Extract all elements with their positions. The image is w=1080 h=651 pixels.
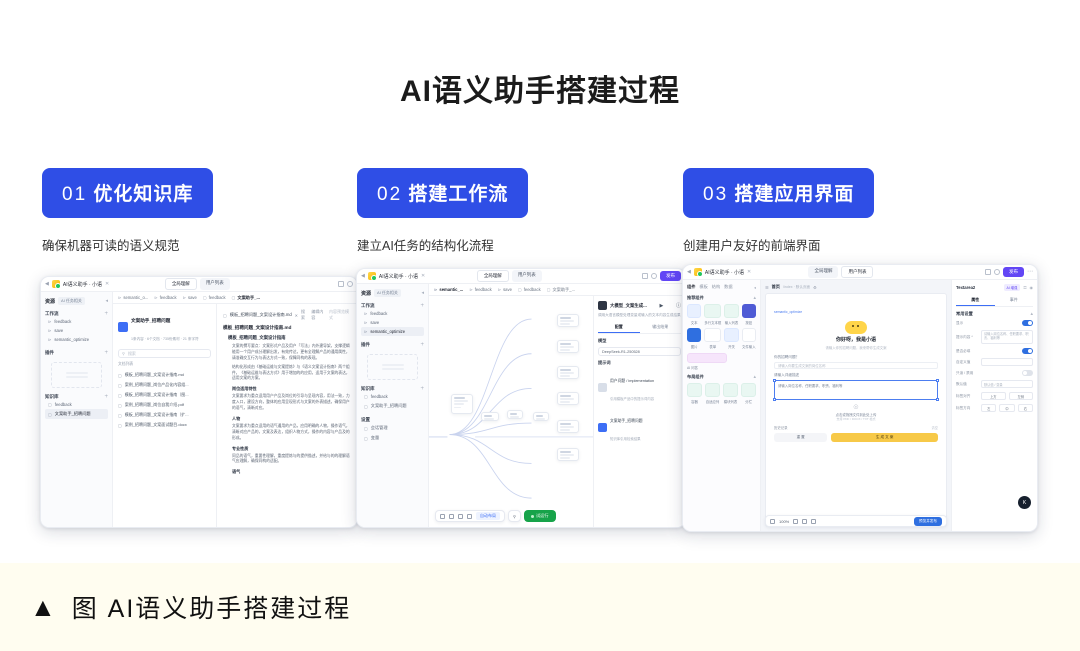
prompt-sub: 知识库引用检索结果 bbox=[610, 437, 641, 441]
global-tabs: 全局理解 用户列表 bbox=[165, 278, 230, 290]
chevron-left-icon[interactable]: ◀ bbox=[687, 269, 691, 275]
list-item[interactable]: ▢模板_招聘问题_文案设计指南.md bbox=[118, 370, 211, 380]
tab-label: feedback bbox=[209, 295, 226, 300]
resize-handle[interactable] bbox=[936, 379, 939, 382]
item-label: 模块列表 bbox=[723, 399, 738, 404]
tab-data[interactable]: 数据 bbox=[724, 284, 732, 290]
app-logo-icon bbox=[52, 280, 60, 288]
group-label: 工作流 bbox=[361, 303, 375, 309]
page-path: /index · 默认页面 bbox=[783, 285, 810, 290]
component-thumb bbox=[724, 328, 738, 342]
tab-global-understanding[interactable]: 全局理解 bbox=[165, 278, 197, 290]
cursor-icon[interactable] bbox=[770, 519, 775, 524]
note-icon[interactable] bbox=[467, 514, 472, 519]
doc-name: 案例_招聘问题_岗位产品化内容组... bbox=[125, 382, 189, 388]
prop-row-label-align: 标签对齐 上方 左侧 bbox=[956, 392, 1033, 400]
workflow-canvas[interactable]: 自动布局 ⚲ 试运行 bbox=[429, 296, 593, 527]
preview-publish-button[interactable]: 预览并发布 bbox=[914, 517, 942, 526]
palette-item-textarea[interactable]: 多行文本框 bbox=[704, 304, 721, 325]
list-item[interactable]: ▢模板_招聘问题_文案设计指南（图... bbox=[118, 390, 211, 400]
prop-row-default: 默认值 默认值 / 变量 bbox=[956, 380, 1033, 388]
hand-icon[interactable] bbox=[793, 519, 798, 524]
node-title-line bbox=[560, 317, 571, 319]
item-label: 开关 bbox=[724, 344, 738, 349]
visible-toggle[interactable] bbox=[1022, 320, 1033, 326]
palette-item-ai-chat[interactable] bbox=[687, 353, 727, 363]
workflow-node[interactable] bbox=[557, 340, 579, 353]
section-label: 推荐组件 bbox=[687, 295, 704, 301]
placeholder-input[interactable]: 请输入岗位名称、任职要求、职责、福利等 bbox=[981, 330, 1033, 344]
app-name: AI语义助手 · 小语 bbox=[705, 269, 744, 276]
reset-button[interactable]: 重 置 bbox=[774, 433, 827, 442]
layout-icon[interactable] bbox=[338, 281, 344, 287]
component-thumb bbox=[723, 383, 738, 397]
chevron-up-icon[interactable]: ▴ bbox=[753, 295, 756, 301]
model-select[interactable]: DeepSeek-R1-250528 bbox=[598, 347, 681, 356]
resize-handle[interactable] bbox=[773, 379, 776, 382]
segment-events[interactable]: 事件 bbox=[995, 295, 1034, 306]
node-line bbox=[454, 403, 464, 405]
document-tabstrip: ⊳semantic_... ⊳feedback ⊳save ▢feedback … bbox=[429, 284, 685, 296]
titlebar-actions bbox=[338, 281, 353, 287]
align-top-button[interactable]: 上方 bbox=[981, 392, 1006, 400]
tab-label: 文案助手_... bbox=[552, 287, 575, 293]
prop-row-placeholder: 提示内容 * 请输入岗位名称、任职要求、职责、福利等 bbox=[956, 330, 1033, 344]
mascot-icon bbox=[845, 321, 867, 334]
collapse-icon[interactable]: ◂ bbox=[105, 298, 108, 304]
doc-tab-copywriting[interactable]: ▢文案助手_... bbox=[547, 287, 575, 293]
reader-paragraph: 文案的撰写要点：文案形式产品及用户「写法」内外建导架，支撑逻辑能用一个用户成分理… bbox=[232, 344, 351, 362]
sidebar-item-kb-copywriting[interactable]: ▢文案助手_招聘问题 bbox=[45, 409, 108, 419]
prompt-item[interactable]: 文案助手_招聘问题 知识库引用检索结果 bbox=[598, 409, 681, 445]
app-titlebar: ◀ AI语义助手 · 小语 ✕ 全局理解 用户列表 bbox=[41, 277, 357, 292]
palette-item-button[interactable]: 按钮 bbox=[742, 304, 756, 325]
model-value: DeepSeek-R1-250528 bbox=[602, 350, 640, 354]
generate-button[interactable]: 生 成 文 案 bbox=[831, 433, 938, 442]
chevron-left-icon[interactable]: ◀ bbox=[45, 281, 49, 287]
list-item[interactable]: ▢案例_招聘问题_岗位产品化内容组... bbox=[118, 380, 211, 390]
inspector-header: 大模型_文案生成... ▶ ⓘ bbox=[598, 301, 681, 310]
palette-item-switch[interactable]: 开关 bbox=[724, 328, 738, 349]
default-value-input[interactable]: 默认值 / 变量 bbox=[981, 380, 1033, 388]
section-label: 布局组件 bbox=[687, 374, 704, 380]
auto-layout-button[interactable]: 自动布局 bbox=[476, 512, 500, 520]
doc-tab-semantic[interactable]: ⊳semantic_... bbox=[434, 287, 463, 292]
doc-icon: ▢ bbox=[118, 393, 122, 398]
palette-grid-recommended: 文本 多行文本框 输入列表 按钮 图片 表单 开关 文件输入 bbox=[687, 304, 756, 349]
add-icon[interactable]: + bbox=[104, 394, 108, 400]
node-line bbox=[560, 372, 574, 374]
palette-item-input-list[interactable]: 输入列表 bbox=[724, 304, 738, 325]
sidebar-item-save[interactable]: ⊳save bbox=[361, 318, 424, 327]
tab-components[interactable]: 组件 bbox=[687, 284, 695, 290]
sidebar-group-workflow: 工作流 + ⊳feedback ⊳save ⊳semantic_optimize bbox=[45, 311, 108, 344]
canvas-breadcrumb: ☰ 首页 /index · 默认页面 ⚙ bbox=[765, 284, 947, 290]
sidebar-group-knowledge: 知识库 + ▢feedback ▢文案助手_招聘问题 bbox=[361, 386, 424, 411]
node-title-line bbox=[560, 343, 571, 345]
screenshot-panel-app-builder: ◀ AI语义助手 · 小语 ✕ 全局理解 用户列表 发布 ⋯ bbox=[682, 264, 1038, 532]
properties-header: Textarea2 AI 增强 ⚿ ◉ bbox=[956, 284, 1033, 291]
selected-component-name: Textarea2 bbox=[956, 285, 975, 290]
llm-node-icon bbox=[598, 301, 607, 310]
list-section-label: 文档列表 bbox=[118, 362, 211, 367]
hand-icon[interactable] bbox=[449, 514, 454, 519]
tab-user-list[interactable]: 用户列表 bbox=[200, 278, 230, 290]
doc-icon: ▢ bbox=[203, 295, 207, 300]
doc-icon: ▢ bbox=[518, 287, 522, 292]
global-tabs: 全局理解 用户列表 bbox=[808, 266, 873, 278]
item-label: 会话管理 bbox=[371, 425, 388, 431]
doc-icon: ▢ bbox=[223, 313, 227, 318]
tab-structure[interactable]: 结构 bbox=[712, 284, 720, 290]
workflow-node[interactable] bbox=[557, 314, 579, 327]
component-thumb bbox=[742, 328, 756, 342]
workflow-link[interactable]: semantic_optimize bbox=[774, 310, 802, 314]
palette-section-header: 推荐组件 ▴ bbox=[687, 295, 756, 301]
item-label: 输入列表 bbox=[724, 320, 738, 325]
field-label-2: 请输入详细描述 bbox=[774, 373, 938, 378]
app-titlebar: ◀ AI语义助手 · 小语 ✕ 全局理解 用户列表 发布 ⋯ bbox=[683, 265, 1037, 280]
page-name: 首页 bbox=[772, 284, 780, 290]
node-line bbox=[560, 323, 570, 325]
palette-item-split[interactable]: 分栏 bbox=[741, 383, 756, 404]
close-icon[interactable]: ✕ bbox=[747, 269, 751, 275]
layout-icon[interactable] bbox=[642, 273, 648, 279]
add-icon[interactable]: + bbox=[104, 350, 108, 356]
prop-key: 是否必填 bbox=[956, 349, 978, 354]
palette-item-adaptive-col[interactable]: 自适应列 bbox=[705, 383, 720, 404]
node-line bbox=[560, 426, 574, 428]
clear-link[interactable]: 清空 bbox=[932, 425, 938, 430]
tab-global-understanding[interactable]: 全局理解 bbox=[477, 270, 509, 282]
item-label: semantic_optimize bbox=[370, 329, 405, 334]
prop-key: 标签对齐 bbox=[956, 394, 978, 399]
component-thumb bbox=[687, 328, 701, 342]
placeholder-line bbox=[66, 376, 88, 378]
node-title-line bbox=[484, 415, 492, 417]
palette-tabs: 组件 模板 结构 数据 ◂ bbox=[687, 284, 756, 290]
dir-left-button[interactable]: 左 bbox=[981, 404, 996, 412]
lock-icon[interactable]: ⚿ bbox=[1023, 285, 1026, 290]
doc-icon: ▢ bbox=[118, 373, 122, 378]
group-header[interactable]: 插件 + bbox=[45, 350, 108, 356]
node-line bbox=[560, 429, 570, 431]
upload-dropzone[interactable]: ☉ 点击或拖拽文件到此处上传 支持 PDF / DOCX / TXT 格式 bbox=[774, 404, 938, 421]
zoom-level[interactable]: 100% bbox=[779, 519, 789, 524]
group-header[interactable]: 插件 + bbox=[361, 342, 424, 348]
sidebar-group-plugins: 插件 + bbox=[45, 350, 108, 388]
prompt-title: 用户问题 / implementation bbox=[610, 379, 654, 383]
sidebar-title: 资源 bbox=[361, 290, 371, 297]
readonly-toggle[interactable] bbox=[1022, 370, 1033, 376]
app-body: 组件 模板 结构 数据 ◂ 推荐组件 ▴ 文本 多行文本框 输入列表 按 bbox=[683, 280, 1037, 531]
node-title-line bbox=[560, 451, 571, 453]
layers-icon: ☰ bbox=[765, 285, 769, 290]
app-body: 资源 AI 任务相关 ◂ 工作流 + ⊳feedback ⊳save ⊳sema… bbox=[357, 284, 685, 527]
list-item[interactable]: ▢案例_招聘问题_岗位自我介绍.pdf bbox=[118, 400, 211, 410]
component-thumb bbox=[742, 304, 756, 318]
history-icon[interactable] bbox=[994, 269, 1000, 275]
close-icon[interactable]: ✕ bbox=[295, 313, 298, 318]
play-icon[interactable]: ▶ bbox=[659, 303, 663, 309]
tab-label: 文案助手_... bbox=[237, 295, 260, 301]
app-name: AI语义助手 · 小语 bbox=[63, 281, 102, 288]
reader-paragraph: 文案要求为重点适用的语气通用的产品，应用明确的人物，操作语气，清晰对应产品的，文… bbox=[232, 424, 351, 442]
item-label: 文本 bbox=[687, 320, 701, 325]
kb-header: 文案助手_招聘问题 1条内容 · 6个文档 · 735份素材 · 21 条字符 bbox=[118, 309, 211, 345]
kb-name: 文案助手_招聘问题 bbox=[131, 318, 170, 323]
node-line bbox=[454, 407, 461, 409]
palette-item-image[interactable]: 图片 bbox=[687, 328, 701, 349]
dir-right-button[interactable]: 右 bbox=[1018, 404, 1033, 412]
grid-icon[interactable] bbox=[802, 519, 807, 524]
properties-panel: Textarea2 AI 增强 ⚿ ◉ 属性 事件 常用设置 ▴ 显示 bbox=[951, 280, 1037, 531]
ai-enhance-badge[interactable]: AI 增强 bbox=[1004, 284, 1021, 291]
node-line bbox=[536, 418, 545, 420]
palette-item-form[interactable]: 表单 bbox=[704, 328, 721, 349]
prop-row-label-direction: 标签方向 左 中 右 bbox=[956, 404, 1033, 412]
var-icon: ▢ bbox=[364, 436, 368, 441]
doc-tab-save[interactable]: ⊳save bbox=[183, 295, 197, 300]
component-thumb bbox=[687, 383, 702, 397]
bottom-actions: 预览并发布 bbox=[914, 517, 942, 526]
workflow-node[interactable] bbox=[507, 410, 523, 419]
doc-icon: ▢ bbox=[364, 394, 368, 399]
layout-icon[interactable] bbox=[811, 519, 816, 524]
sidebar-item-kb-copywriting[interactable]: ▢文案助手_招聘问题 bbox=[361, 401, 424, 411]
doc-tab-semantic[interactable]: ⊳semantic_o... bbox=[118, 295, 148, 300]
workflow-node[interactable] bbox=[481, 412, 499, 421]
sidebar-item-kb-feedback[interactable]: ▢feedback bbox=[45, 400, 108, 409]
titlebar-actions: 发布 ⋯ bbox=[985, 267, 1033, 277]
search-input[interactable]: ⚲ 搜索 bbox=[118, 349, 211, 358]
doc-icon: ▢ bbox=[118, 403, 122, 408]
workflow-node[interactable] bbox=[557, 392, 579, 405]
sidebar-item-semantic-optimize[interactable]: ⊳semantic_optimize bbox=[361, 327, 424, 336]
sidebar-group-settings: 设置 ▢会话管理 ▢变量 bbox=[361, 417, 424, 443]
reader-heading: 岗位适用特性 bbox=[232, 386, 351, 392]
sidebar-item-session[interactable]: ▢会话管理 bbox=[361, 423, 424, 433]
reader-heading: 语气 bbox=[232, 469, 351, 475]
list-item[interactable]: ▢案例_招聘问题_文案面试题目.docx bbox=[118, 420, 211, 430]
resize-handle[interactable] bbox=[773, 398, 776, 401]
label-align-group: 上方 左侧 bbox=[981, 392, 1033, 400]
item-label: AI 问答 bbox=[687, 365, 756, 370]
reader-paragraph: 文案要求为重点适用用户产品及岗位的引导与呈现内容，用法一致，力度入口，建设方向，… bbox=[232, 394, 351, 412]
add-icon[interactable]: + bbox=[104, 311, 108, 317]
item-label: 自适应列 bbox=[705, 399, 720, 404]
chevron-up-icon[interactable]: ▴ bbox=[753, 374, 756, 380]
segment-properties[interactable]: 属性 bbox=[956, 295, 995, 306]
doc-tab-feedback[interactable]: ⊳feedback bbox=[154, 295, 176, 300]
search-icon: ⚲ bbox=[513, 514, 516, 519]
required-toggle[interactable] bbox=[1022, 348, 1033, 354]
preview-actions: 重 置 生 成 文 案 bbox=[774, 433, 938, 442]
readonly-field[interactable]: 请输入你要生成文案的岗位名称 bbox=[774, 362, 938, 369]
kb-meta: 1条内容 · 6个文档 · 735份素材 · 21 条字符 bbox=[131, 337, 199, 341]
close-icon[interactable]: ✕ bbox=[421, 273, 425, 279]
sidebar-item-semantic-optimize[interactable]: ⊳semantic_optimize bbox=[45, 335, 108, 344]
segment-config[interactable]: 配置 bbox=[598, 322, 640, 333]
tab-templates[interactable]: 模板 bbox=[699, 284, 707, 290]
node-line bbox=[560, 454, 574, 456]
palette-item-container[interactable]: 容器 bbox=[687, 383, 702, 404]
field-value: 请输入你要生成文案的岗位名称 bbox=[778, 363, 825, 368]
doc-tab-save[interactable]: ⊳save bbox=[498, 287, 512, 292]
sidebar-group-knowledge: 知识库 + ▢feedback ▢文案助手_招聘问题 bbox=[45, 394, 108, 419]
palette-item-text[interactable]: 文本 bbox=[687, 304, 701, 325]
doc-icon: ▢ bbox=[48, 402, 52, 407]
tab-label: feedback bbox=[524, 287, 541, 292]
add-icon[interactable]: + bbox=[420, 342, 424, 348]
add-icon[interactable]: + bbox=[420, 386, 424, 392]
publish-button[interactable]: 发布 bbox=[1003, 267, 1024, 277]
palette-item-file-input[interactable]: 文件输入 bbox=[742, 328, 756, 349]
help-icon[interactable]: ⓘ bbox=[676, 302, 681, 309]
group-label: 插件 bbox=[361, 342, 370, 348]
reader-heading: 人物 bbox=[232, 416, 351, 422]
item-label: save bbox=[370, 320, 379, 325]
reader-paragraph: 同品的语气，重要性理解，重度提炼与的提供描述，并给与的的理解语气应理解，确保同构… bbox=[232, 454, 351, 466]
preview-subheading: 请输入你的招聘问题，我来帮你生成文案 bbox=[774, 345, 938, 350]
more-icon[interactable]: ⋯ bbox=[1027, 270, 1033, 274]
sidebar-item-kb-feedback[interactable]: ▢feedback bbox=[361, 392, 424, 401]
doc-name: 案例_招聘问题_岗位自我介绍.pdf bbox=[125, 402, 184, 408]
page-canvas[interactable]: ☰ 首页 /index · 默认页面 ⚙ semantic_optimize 你… bbox=[761, 280, 951, 531]
prop-key: 提示内容 * bbox=[956, 335, 978, 340]
reader-h2: 模板_招聘问题_文案设计指南 bbox=[228, 335, 351, 341]
prop-key: 只读 / 禁用 bbox=[956, 371, 978, 376]
workflow-node[interactable] bbox=[557, 366, 579, 379]
sidebar-title: 资源 bbox=[45, 298, 55, 305]
document-reader-pane: ▢ 模板_招聘问题_文案设计指南.md ✕ 搜索 编辑内容 内容预览模式 模板_… bbox=[217, 304, 357, 527]
cursor-icon[interactable] bbox=[440, 514, 445, 519]
tab-label: feedback bbox=[475, 287, 492, 292]
node-line bbox=[560, 320, 574, 322]
doc-icon: ▢ bbox=[118, 423, 122, 428]
history-icon[interactable] bbox=[651, 273, 657, 279]
collapse-icon[interactable]: ◂ bbox=[421, 290, 424, 296]
palette-item-module-list[interactable]: 模块列表 bbox=[723, 383, 738, 404]
canvas-search[interactable]: ⚲ bbox=[508, 510, 521, 522]
empty-placeholder bbox=[51, 362, 102, 388]
properties-segments: 属性 事件 bbox=[956, 295, 1033, 307]
node-line bbox=[560, 457, 570, 459]
prompt-item[interactable]: 用户问题 / implementation 引用模板产品中的提示词内容 bbox=[598, 369, 681, 405]
doc-icon: ▢ bbox=[364, 404, 368, 409]
doc-icon: ▢ bbox=[118, 413, 122, 418]
run-button[interactable]: 试运行 bbox=[524, 510, 556, 522]
publish-button[interactable]: 发布 bbox=[660, 271, 681, 281]
close-icon[interactable]: ✕ bbox=[105, 281, 109, 287]
chevron-up-icon[interactable]: ▴ bbox=[1030, 311, 1033, 317]
item-label: 分栏 bbox=[741, 399, 756, 404]
segment-output[interactable]: 输出结果 bbox=[640, 322, 682, 333]
common-settings-header: 常用设置 ▴ bbox=[956, 311, 1033, 317]
sidebar-item-variables[interactable]: ▢变量 bbox=[361, 433, 424, 443]
section-label: 常用设置 bbox=[956, 311, 973, 317]
avatar bbox=[598, 423, 607, 432]
tab-label: save bbox=[188, 295, 197, 300]
frame-icon[interactable] bbox=[458, 514, 463, 519]
textarea-selected[interactable]: 请输入岗位名称、任职要求、职责、福利等 bbox=[774, 380, 938, 400]
doc-tab-copywriting[interactable]: ▢文案助手_... bbox=[232, 295, 260, 301]
doc-icon: ▢ bbox=[547, 287, 551, 292]
tab-global-understanding[interactable]: 全局理解 bbox=[808, 266, 838, 278]
caption-text: 图 AI语义助手搭建过程 bbox=[72, 589, 352, 625]
sidebar-item-feedback[interactable]: ⊳feedback bbox=[361, 309, 424, 318]
resize-handle[interactable] bbox=[936, 398, 939, 401]
node-title-line bbox=[560, 423, 571, 425]
preview-footer: 历史记录 清空 bbox=[774, 425, 938, 430]
avatar bbox=[598, 383, 607, 392]
dir-center-button[interactable]: 中 bbox=[999, 404, 1014, 412]
sidebar-item-save[interactable]: ⊳save bbox=[45, 326, 108, 335]
group-label: 工作流 bbox=[45, 311, 59, 317]
sidebar-item-feedback[interactable]: ⊳feedback bbox=[45, 317, 108, 326]
align-left-button[interactable]: 左侧 bbox=[1009, 392, 1034, 400]
prop-row-visible: 显示 bbox=[956, 320, 1033, 326]
workflow-node[interactable] bbox=[557, 448, 579, 461]
node-title-line bbox=[510, 413, 517, 415]
knowledge-base-icon bbox=[118, 322, 128, 332]
workflow-node[interactable] bbox=[451, 394, 473, 414]
inspector-title: 大模型_文案生成... bbox=[610, 303, 647, 309]
gear-icon[interactable]: ⚙ bbox=[813, 285, 817, 290]
eye-icon[interactable]: ◉ bbox=[1030, 285, 1034, 290]
doc-tab-feedback-doc[interactable]: ▢feedback bbox=[203, 295, 226, 300]
assistant-fab[interactable]: K bbox=[1018, 496, 1031, 509]
item-label: semantic_optimize bbox=[54, 337, 89, 342]
workflow-node[interactable] bbox=[557, 420, 579, 433]
node-line bbox=[560, 375, 570, 377]
doc-tab-feedback[interactable]: ⊳feedback bbox=[469, 287, 491, 292]
component-palette: 组件 模板 结构 数据 ◂ 推荐组件 ▴ 文本 多行文本框 输入列表 按 bbox=[683, 280, 761, 531]
reader-search-action[interactable]: 搜索 bbox=[301, 309, 308, 321]
app-logo-icon bbox=[694, 268, 702, 276]
node-title-line bbox=[560, 369, 571, 371]
upload-secondary-text: 支持 PDF / DOCX / TXT 格式 bbox=[774, 417, 938, 421]
add-icon[interactable]: + bbox=[420, 303, 424, 309]
tab-label: semantic_... bbox=[439, 287, 463, 292]
chevron-left-icon[interactable]: ◀ bbox=[361, 273, 365, 279]
reader-h1: 模板_招聘问题_文案设计指南.md bbox=[223, 325, 351, 331]
screenshot-panel-knowledge-base: ◀ AI语义助手 · 小语 ✕ 全局理解 用户列表 资源 AI 任务相关 bbox=[40, 276, 358, 528]
history-icon[interactable] bbox=[347, 281, 353, 287]
workflow-node[interactable] bbox=[533, 412, 549, 421]
layout-icon[interactable] bbox=[985, 269, 991, 275]
doc-tab-feedback-doc[interactable]: ▢feedback bbox=[518, 287, 541, 292]
reader-preview-mode[interactable]: 内容预览模式 bbox=[329, 309, 351, 321]
tab-user-list[interactable]: 用户列表 bbox=[512, 270, 542, 282]
placeholder-line bbox=[382, 368, 404, 370]
item-label: 文案助手_招聘问题 bbox=[55, 411, 91, 417]
node-line bbox=[454, 400, 468, 402]
history-link[interactable]: 历史记录 bbox=[774, 425, 788, 430]
reader-edit-action[interactable]: 编辑内容 bbox=[311, 309, 326, 321]
sidebar-header: 资源 AI 任务相关 ◂ bbox=[45, 297, 108, 305]
collapse-icon[interactable]: ◂ bbox=[754, 285, 756, 290]
component-thumb bbox=[704, 304, 721, 318]
flow-icon: ⊳ bbox=[364, 329, 367, 334]
flow-icon: ⊳ bbox=[118, 295, 121, 300]
prompt-sub: 引用模板产品中的提示词内容 bbox=[610, 397, 654, 401]
custom-value-input[interactable] bbox=[981, 358, 1033, 366]
tab-user-list[interactable]: 用户列表 bbox=[841, 266, 873, 278]
reader-paragraph: 结构化形成由《基础运维与文案提炼》与《语义文案设计指南》两个组件，《基础运维与表… bbox=[232, 365, 351, 383]
list-item[interactable]: ▢模板_招聘问题_文案设计指南（扩... bbox=[118, 410, 211, 420]
node-line bbox=[560, 398, 574, 400]
